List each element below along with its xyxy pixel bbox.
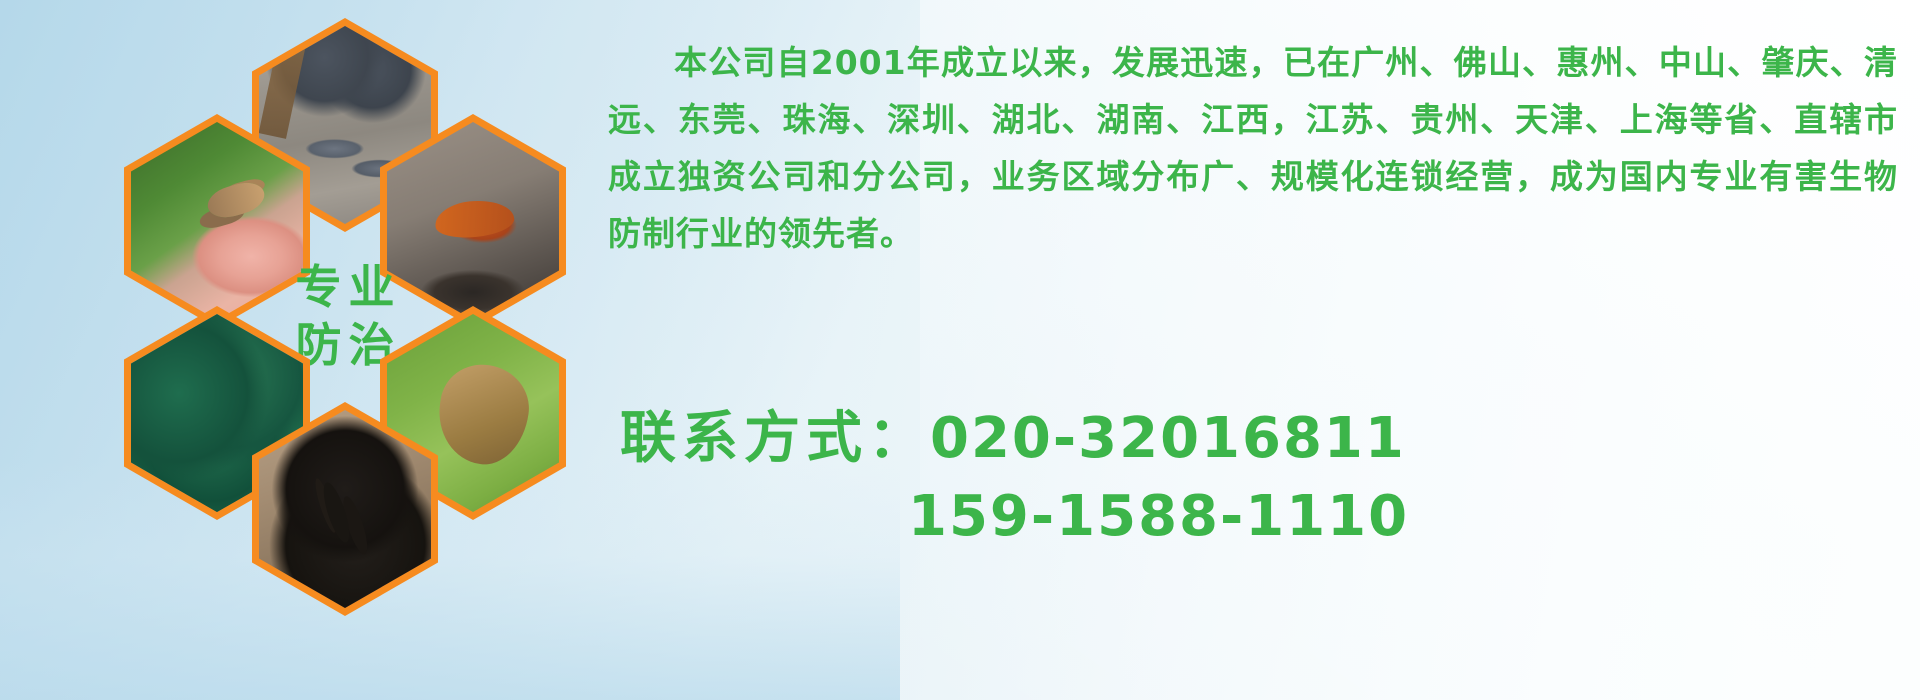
hexagon-photo-cluster: 专业 防治 <box>92 0 592 552</box>
intro-paragraph: 本公司自2001年成立以来，发展迅速，已在广州、佛山、惠州、中山、肇庆、清远、东… <box>608 34 1898 262</box>
contact-mobile-number[interactable]: 159-1588-1110 <box>908 484 1409 549</box>
hex-inner-ant <box>259 410 431 608</box>
contact-landline-number[interactable]: 020-32016811 <box>930 406 1406 471</box>
company-intro-block: 本公司自2001年成立以来，发展迅速，已在广州、佛山、惠州、中山、肇庆、清远、东… <box>608 34 1908 262</box>
ant-photo-icon <box>259 410 431 608</box>
contact-block: 联系方式：020-32016811 159-1588-1110 <box>620 400 1910 556</box>
contact-primary-line: 联系方式：020-32016811 <box>620 400 1910 478</box>
contact-secondary-line: 159-1588-1110 <box>620 478 1910 556</box>
center-badge-line-1: 专业 <box>289 262 402 314</box>
contact-label: 联系方式： <box>620 406 930 471</box>
